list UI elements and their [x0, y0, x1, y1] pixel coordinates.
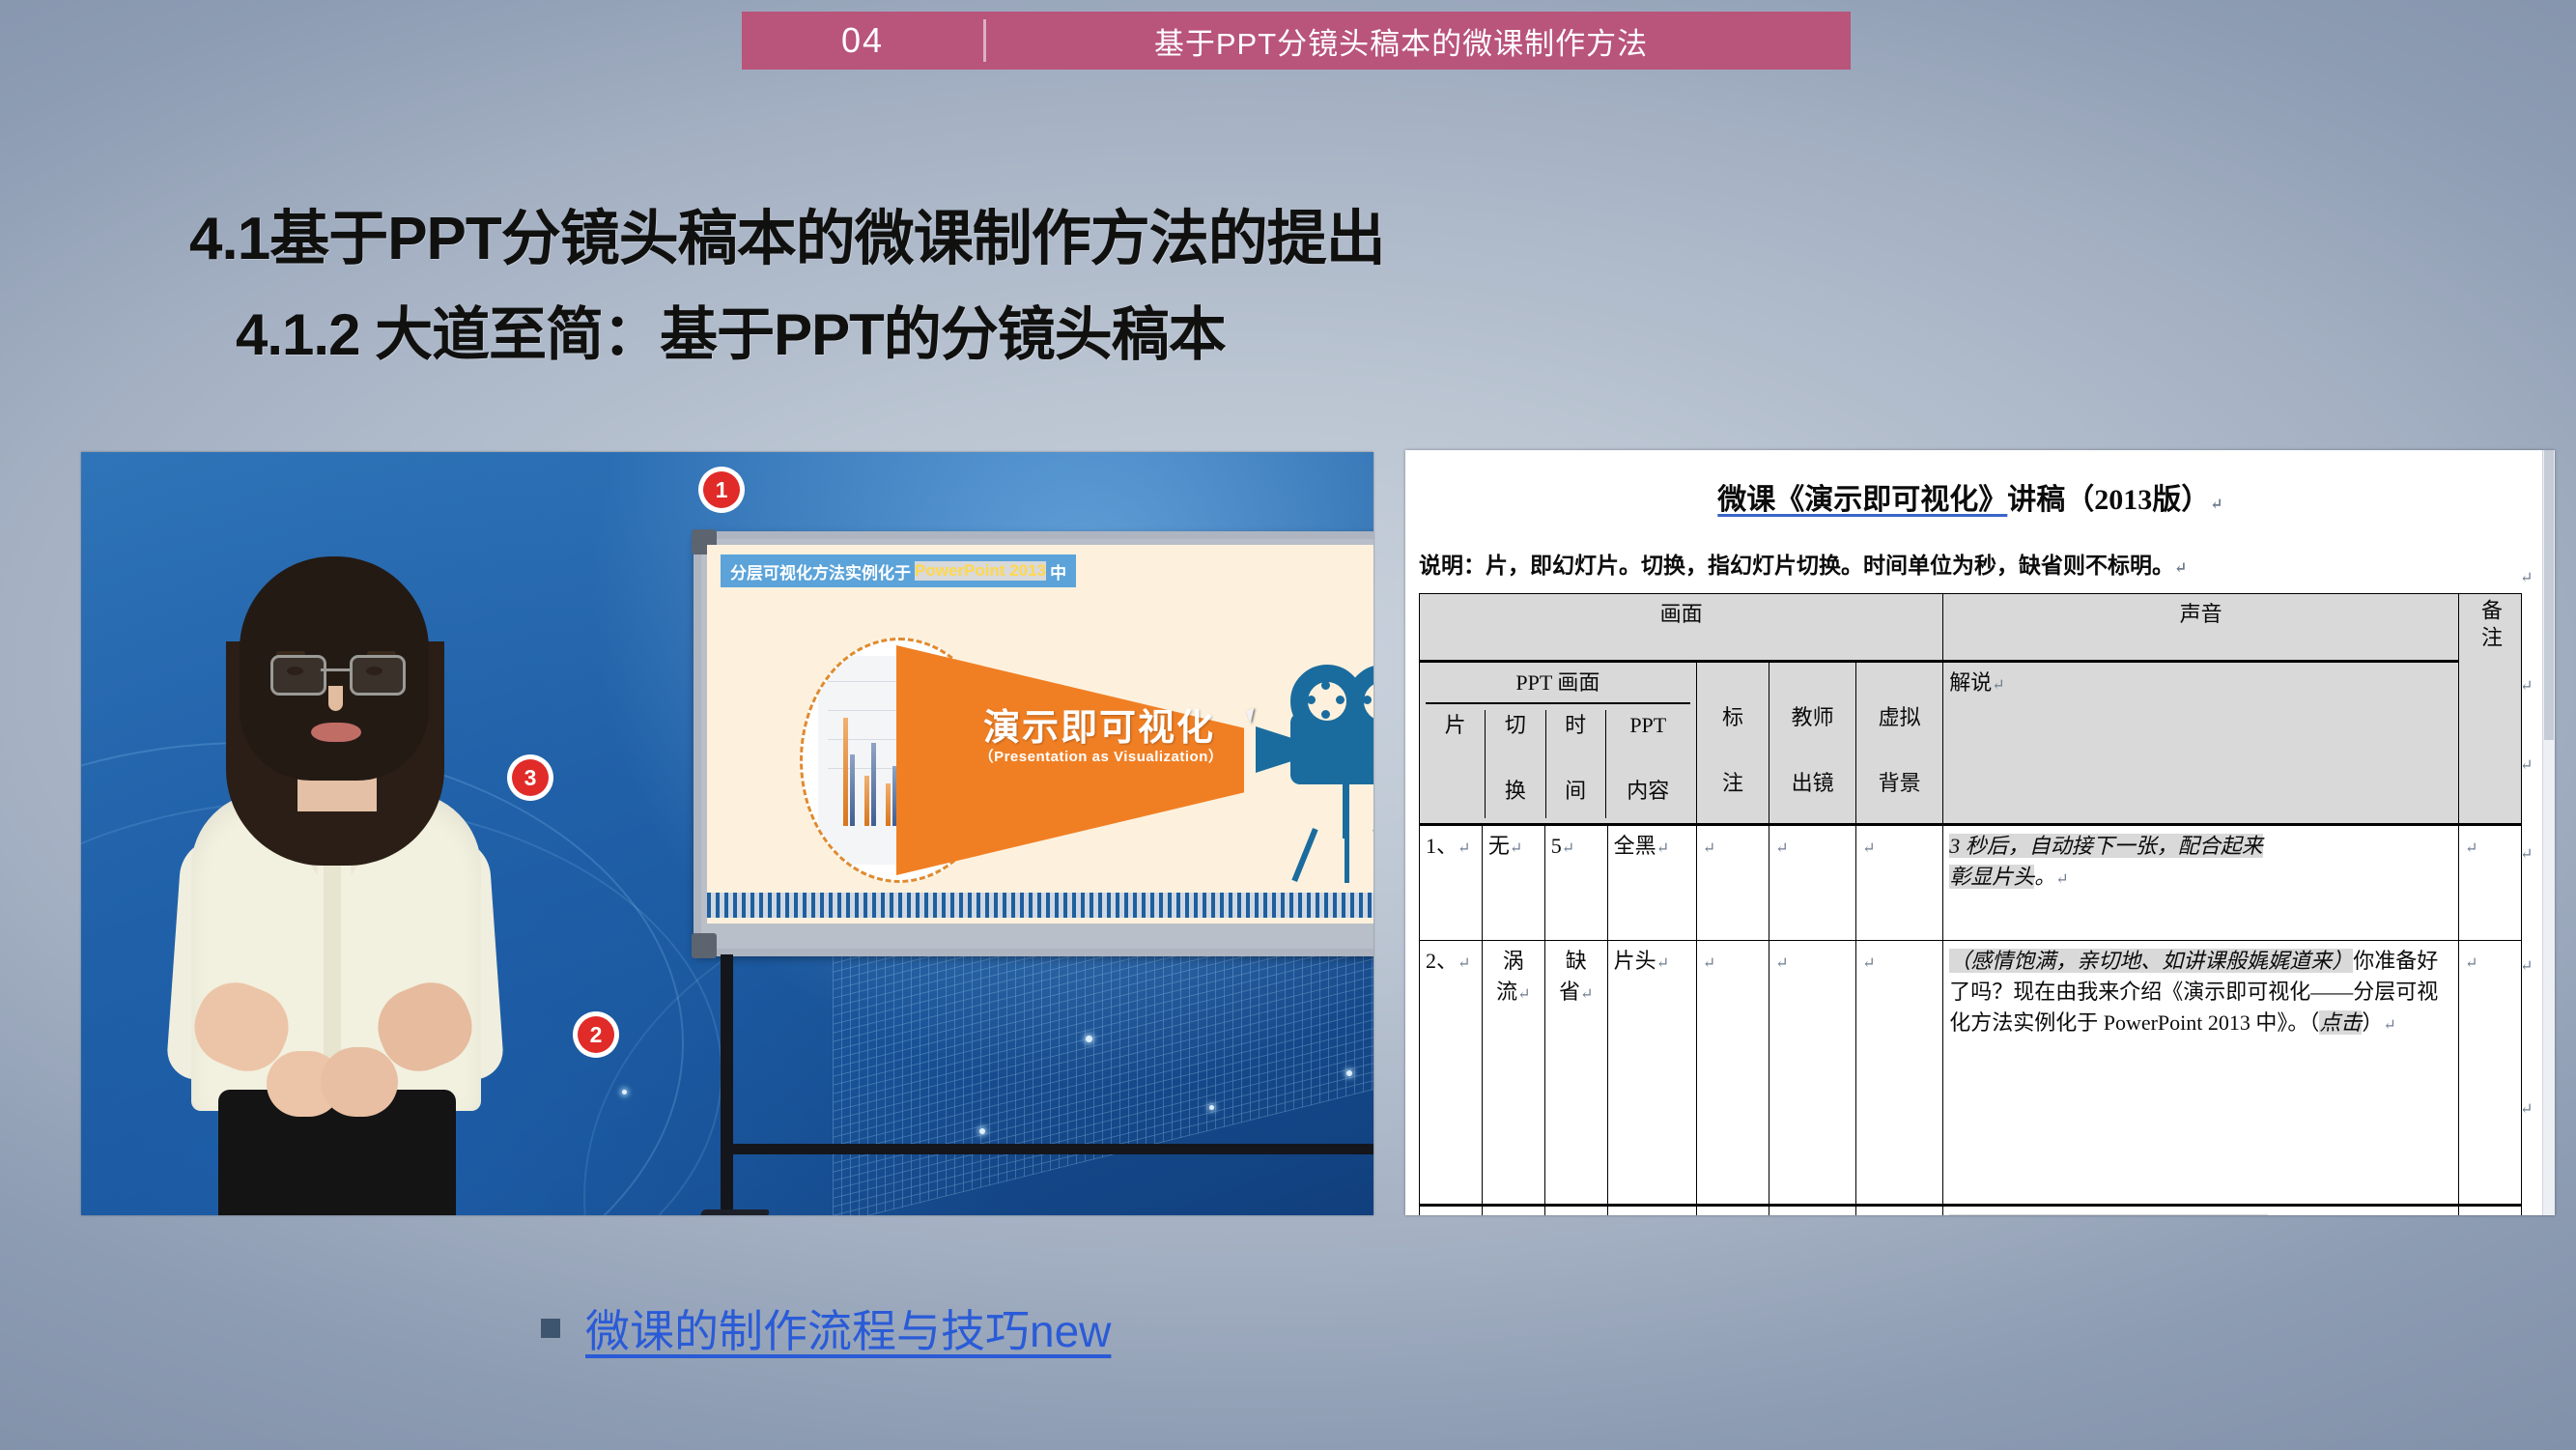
cell-ppt-content: 片头↵ [1607, 940, 1696, 1205]
cell-narration: （有 3 个超链接）这是本讲的主要 [1943, 1205, 2459, 1215]
video-preview-panel[interactable]: 分层可视化方法实例化于PowerPoint 2013中 [81, 452, 1373, 1215]
inner-slide-title-tail: 中 [1050, 559, 1066, 583]
banner-section-number: 04 [742, 20, 983, 61]
cell-slide-no: 2、↵ [1420, 940, 1483, 1205]
banner-divider [983, 19, 986, 62]
cell-transition: 溶 [1482, 1205, 1544, 1215]
cell-teacher: ↵ [1769, 940, 1856, 1205]
whiteboard-foot-left [696, 1209, 770, 1215]
table-row: 3、↵ 溶 ↵ ↵ ↵ ↵ ↵ （有 3 个超链接）这是本讲的主要 ↵ [1420, 1205, 2522, 1215]
inner-slide-title-product: PowerPoint 2013 [915, 561, 1046, 581]
section-banner: 04 基于PPT分镜头稿本的微课制作方法 [742, 12, 1851, 70]
narration-highlight: 3 秒后，自动接下一张，配合起来 [1949, 834, 2263, 858]
callout-marker-2[interactable]: 2 [578, 1016, 614, 1053]
cell-time: ↵ [1544, 1205, 1607, 1215]
cell-narration: （感情饱满，亲切地、如讲课般娓娓道来）你准备好了吗？现在由我来介绍《演示即可视化… [1943, 940, 2459, 1205]
cell-remark: ↵ [2459, 1205, 2522, 1215]
whiteboard-screen: 分层可视化方法实例化于PowerPoint 2013中 [707, 545, 1373, 924]
footer-bullet-row[interactable]: 微课的制作流程与技巧new [541, 1296, 1111, 1360]
header-group-sound: 声音 [1943, 594, 2459, 662]
document-scrollbar[interactable] [2542, 450, 2555, 1215]
presenter-eye-right [366, 667, 382, 675]
document-pilcrow-column: ↵ ↵ ↵ ↵ ↵ ↵ ↵ [2520, 450, 2541, 1215]
whiteboard-corner [692, 933, 717, 958]
whiteboard-stand-left [721, 954, 733, 1215]
document-note: 说明：片，即幻灯片。切换，指幻灯片切换。时间单位为秒，缺省则不标明。↵ [1419, 547, 2522, 580]
col-label-virtual-bg: 虚拟 背景 [1856, 662, 1943, 825]
cell-slide-no: 3、↵ [1420, 1205, 1483, 1215]
document-title-underlined: 微课《演示即可视化》 [1717, 484, 2007, 516]
whiteboard-stand-crossbar [721, 1144, 1373, 1154]
cell-teacher: ↵ [1769, 1205, 1856, 1215]
cell-ppt-content: ↵ [1607, 1205, 1696, 1215]
callout-marker-3[interactable]: 3 [512, 759, 549, 796]
document-body: 微课《演示即可视化》讲稿（2013版）↵ 说明：片，即幻灯片。切换，指幻灯片切换… [1419, 450, 2522, 1215]
arrow-main-text: 演示即可视化 [954, 697, 1244, 751]
cell-remark: ↵ [2459, 824, 2522, 940]
presenter-eye-left [287, 667, 303, 675]
background-spark [979, 1128, 985, 1134]
cell-mark: ↵ [1696, 940, 1769, 1205]
table-row: 1、↵ 无↵ 5↵ 全黑↵ ↵ ↵ ↵ 3 秒后，自动接下一张，配合起来 彰显片… [1420, 824, 2522, 940]
cell-transition: 涡 流↵ [1482, 940, 1544, 1205]
header-narration-label: 解说 [1949, 670, 1992, 695]
header-remark-label: 备注 [2475, 599, 2505, 653]
cell-time: 缺 省↵ [1544, 940, 1607, 1205]
cell-ppt-content: 全黑↵ [1607, 824, 1696, 940]
presenter-figure [174, 549, 493, 1215]
cell-transition: 无↵ [1482, 824, 1544, 940]
table-header-row-sub: PPT 画面 片 切 换 时 间 P [1420, 662, 2522, 825]
narration-highlight: （有 3 个超链接）这是本讲的主要 [1949, 1214, 2268, 1215]
whiteboard: 分层可视化方法实例化于PowerPoint 2013中 [694, 531, 1373, 956]
col-label-qiehuan: 切 换 [1486, 710, 1545, 818]
storyboard-table: 画面 声音 备注 PPT 画面 片 切 换 [1419, 593, 2522, 1215]
cell-mark: ↵ [1696, 1205, 1769, 1215]
inner-slide-title-cn: 分层可视化方法实例化于 [730, 559, 911, 583]
cell-virtual-bg: ↵ [1856, 1205, 1943, 1215]
slide-canvas: 04 基于PPT分镜头稿本的微课制作方法 4.1基于PPT分镜头稿本的微课制作方… [0, 0, 2576, 1450]
cell-mark: ↵ [1696, 824, 1769, 940]
narration-click-cue: 点击 [2319, 1010, 2362, 1035]
background-spark [1086, 1036, 1092, 1042]
col-label-shijian: 时 间 [1546, 710, 1606, 818]
square-bullet-icon [541, 1319, 560, 1338]
script-document-panel[interactable]: 微课《演示即可视化》讲稿（2013版）↵ 说明：片，即幻灯片。切换，指幻灯片切换… [1405, 450, 2555, 1215]
table-row: 2、↵ 涡 流↵ 缺 省↵ 片头↵ ↵ ↵ ↵ （感情饱满，亲切地、如讲课般娓娓… [1420, 940, 2522, 1205]
page-title-line2: 4.1.2 大道至简：基于PPT的分镜头稿本 [236, 288, 1226, 372]
cell-remark: ↵ [2459, 940, 2522, 1205]
cell-teacher: ↵ [1769, 824, 1856, 940]
movie-camera-icon [1248, 638, 1373, 879]
background-spark [1346, 1070, 1352, 1076]
arrow-sub-text: （Presentation as Visualization） [950, 746, 1252, 766]
page-title-line1: 4.1基于PPT分镜头稿本的微课制作方法的提出 [189, 189, 1385, 276]
presenter-mouth [311, 723, 361, 742]
glasses-lens-right-icon [350, 655, 406, 696]
narration-highlight2: 娓道来） [2268, 949, 2353, 973]
document-title-rest: 讲稿（2013版） [2007, 484, 2210, 516]
table-header-row-group: 画面 声音 备注 [1420, 594, 2522, 662]
cell-virtual-bg: ↵ [1856, 940, 1943, 1205]
presenter-hand-right [321, 1047, 398, 1117]
header-group-picture: 画面 [1420, 594, 1943, 662]
callout-marker-1[interactable]: 1 [703, 471, 740, 508]
cell-narration: 3 秒后，自动接下一张，配合起来 彰显片头。↵ [1943, 824, 2459, 940]
col-label-teacher: 教师 出镜 [1769, 662, 1856, 825]
whiteboard-tray [707, 893, 1373, 918]
inner-slide-title: 分层可视化方法实例化于PowerPoint 2013中 [721, 554, 1076, 587]
narration-highlight: （感情饱满，亲切地、如讲课般娓 [1949, 949, 2268, 973]
cell-slide-no: 1、↵ [1420, 824, 1483, 940]
banner-section-title: 基于PPT分镜头稿本的微课制作方法 [986, 19, 1851, 63]
document-title: 微课《演示即可视化》讲稿（2013版）↵ [1419, 475, 2522, 518]
col-label-ppt-content: PPT 内容 [1606, 710, 1690, 818]
footer-hyperlink[interactable]: 微课的制作流程与技巧new [585, 1296, 1111, 1360]
glasses-lens-left-icon [270, 655, 326, 696]
col-label-biaozhu: 标 注 [1696, 662, 1769, 825]
background-spark [1209, 1105, 1214, 1110]
header-ppt-picture: PPT 画面 片 切 换 时 间 P [1420, 662, 1697, 825]
document-note-text: 说明：片，即幻灯片。切换，指幻灯片切换。时间单位为秒，缺省则不标明。 [1419, 554, 2174, 578]
glasses-bridge-icon [321, 668, 350, 671]
header-narration: 解说↵ [1943, 662, 2459, 825]
presenter-nose [328, 686, 343, 711]
narration-highlight2: 彰显片头 [1949, 865, 2034, 889]
header-remark: 备注 [2459, 594, 2522, 825]
cell-time: 5↵ [1544, 824, 1607, 940]
header-ppt-picture-label: PPT 画面 [1426, 668, 1690, 704]
cell-virtual-bg: ↵ [1856, 824, 1943, 940]
background-spark [622, 1090, 627, 1095]
col-label-pian: 片 [1426, 710, 1486, 818]
